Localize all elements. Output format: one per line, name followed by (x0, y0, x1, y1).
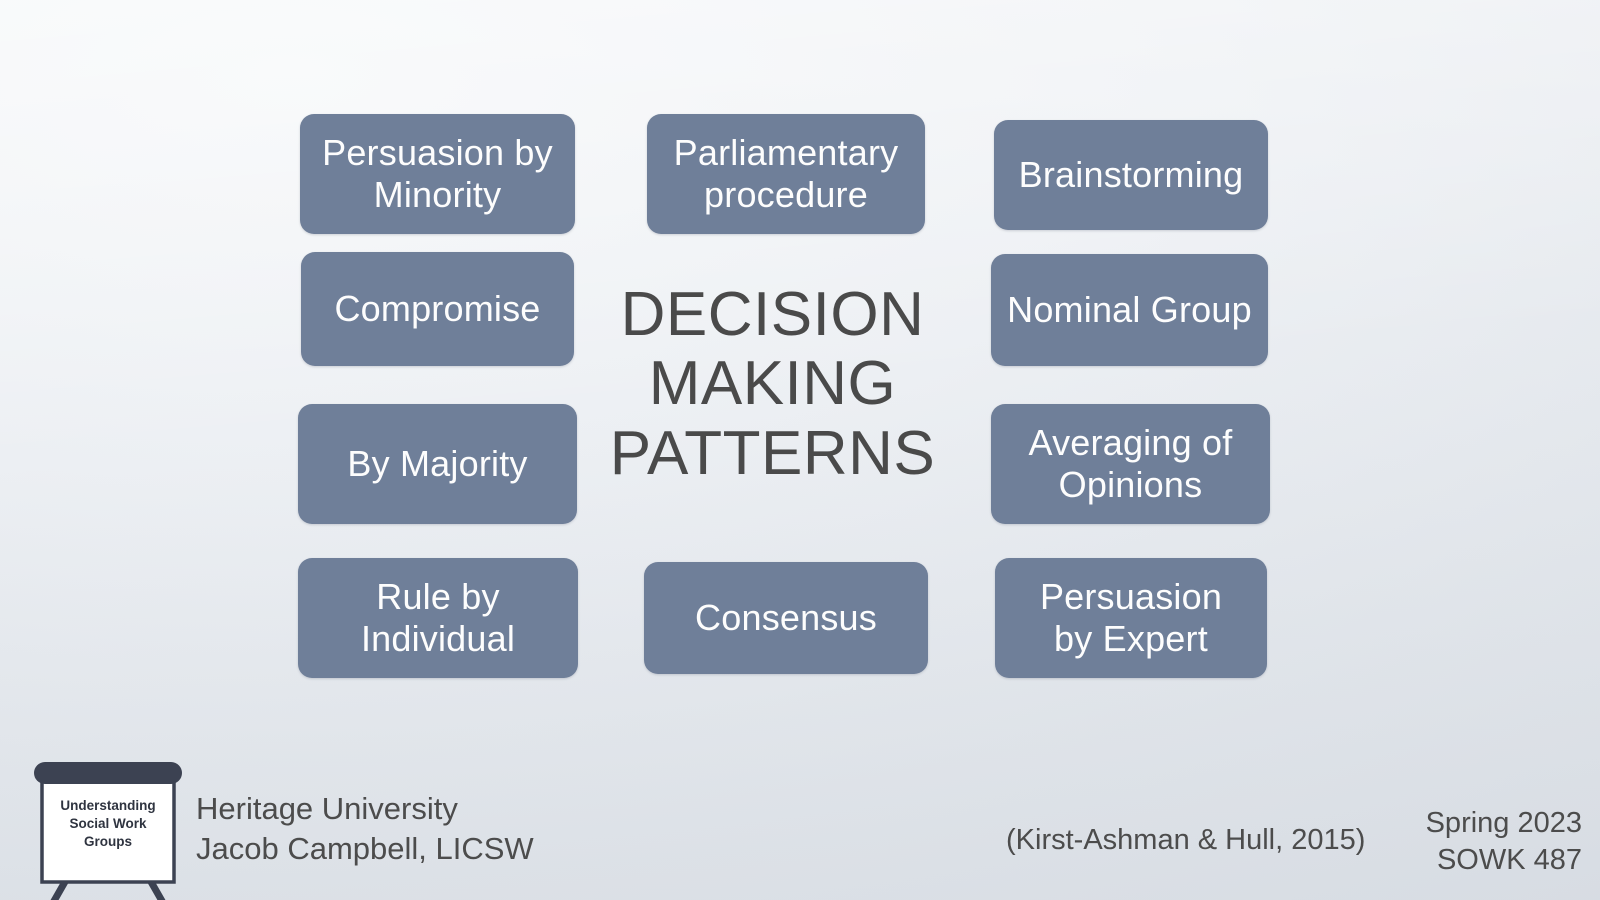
citation-text: (Kirst-Ashman & Hull, 2015) (1006, 822, 1365, 859)
footer-attribution: Heritage University Jacob Campbell, LICS… (196, 789, 534, 868)
logo-line3: Groups (84, 834, 132, 849)
logo-line2: Social Work (69, 816, 147, 831)
pattern-box-nominal-group[interactable]: Nominal Group (991, 254, 1268, 366)
pattern-label-line1: Rule by (361, 576, 515, 618)
pattern-label-line2: Opinions (1029, 464, 1233, 506)
pattern-label-line2: by Expert (1040, 618, 1222, 660)
slide-title-line3: Patterns (600, 419, 945, 488)
footer-institution: Heritage University (196, 789, 534, 829)
footer-course-info: Spring 2023 SOWK 487 (1426, 805, 1582, 879)
pattern-box-by-majority[interactable]: By Majority (298, 404, 577, 524)
pattern-box-brainstorming[interactable]: Brainstorming (994, 120, 1268, 230)
pattern-label-line1: By Majority (347, 443, 527, 485)
pattern-box-parliamentary-procedure[interactable]: Parliamentary procedure (647, 114, 925, 234)
pattern-label-line2: procedure (674, 174, 899, 216)
easel-flipchart-icon: Understanding Social Work Groups (24, 752, 192, 900)
footer-term: Spring 2023 (1426, 805, 1582, 842)
pattern-label-line1: Persuasion by (322, 132, 553, 174)
footer-citation: (Kirst-Ashman & Hull, 2015) (1006, 822, 1365, 859)
pattern-box-persuasion-by-minority[interactable]: Persuasion by Minority (300, 114, 575, 234)
pattern-label-line2: Individual (361, 618, 515, 660)
pattern-label-line1: Parliamentary (674, 132, 899, 174)
pattern-label-line1: Averaging of (1029, 422, 1233, 464)
pattern-box-consensus[interactable]: Consensus (644, 562, 928, 674)
pattern-label-line1: Nominal Group (1007, 289, 1252, 331)
slide-title-line1: Decision (600, 280, 945, 349)
slide-title: Decision Making Patterns (600, 280, 945, 488)
pattern-label-line1: Brainstorming (1019, 154, 1244, 196)
pattern-label-line1: Persuasion (1040, 576, 1222, 618)
pattern-box-compromise[interactable]: Compromise (301, 252, 574, 366)
pattern-box-averaging-of-opinions[interactable]: Averaging of Opinions (991, 404, 1270, 524)
pattern-box-persuasion-by-expert[interactable]: Persuasion by Expert (995, 558, 1267, 678)
footer-presenter: Jacob Campbell, LICSW (196, 829, 534, 869)
pattern-label-line2: Minority (322, 174, 553, 216)
slide-title-line2: Making (600, 349, 945, 418)
presentation-slide: Persuasion by Minority Compromise By Maj… (0, 0, 1600, 900)
pattern-label-line1: Consensus (695, 597, 877, 639)
logo-line1: Understanding (60, 798, 155, 813)
pattern-label-line1: Compromise (334, 288, 540, 330)
footer-course-code: SOWK 487 (1426, 842, 1582, 879)
pattern-box-rule-by-individual[interactable]: Rule by Individual (298, 558, 578, 678)
